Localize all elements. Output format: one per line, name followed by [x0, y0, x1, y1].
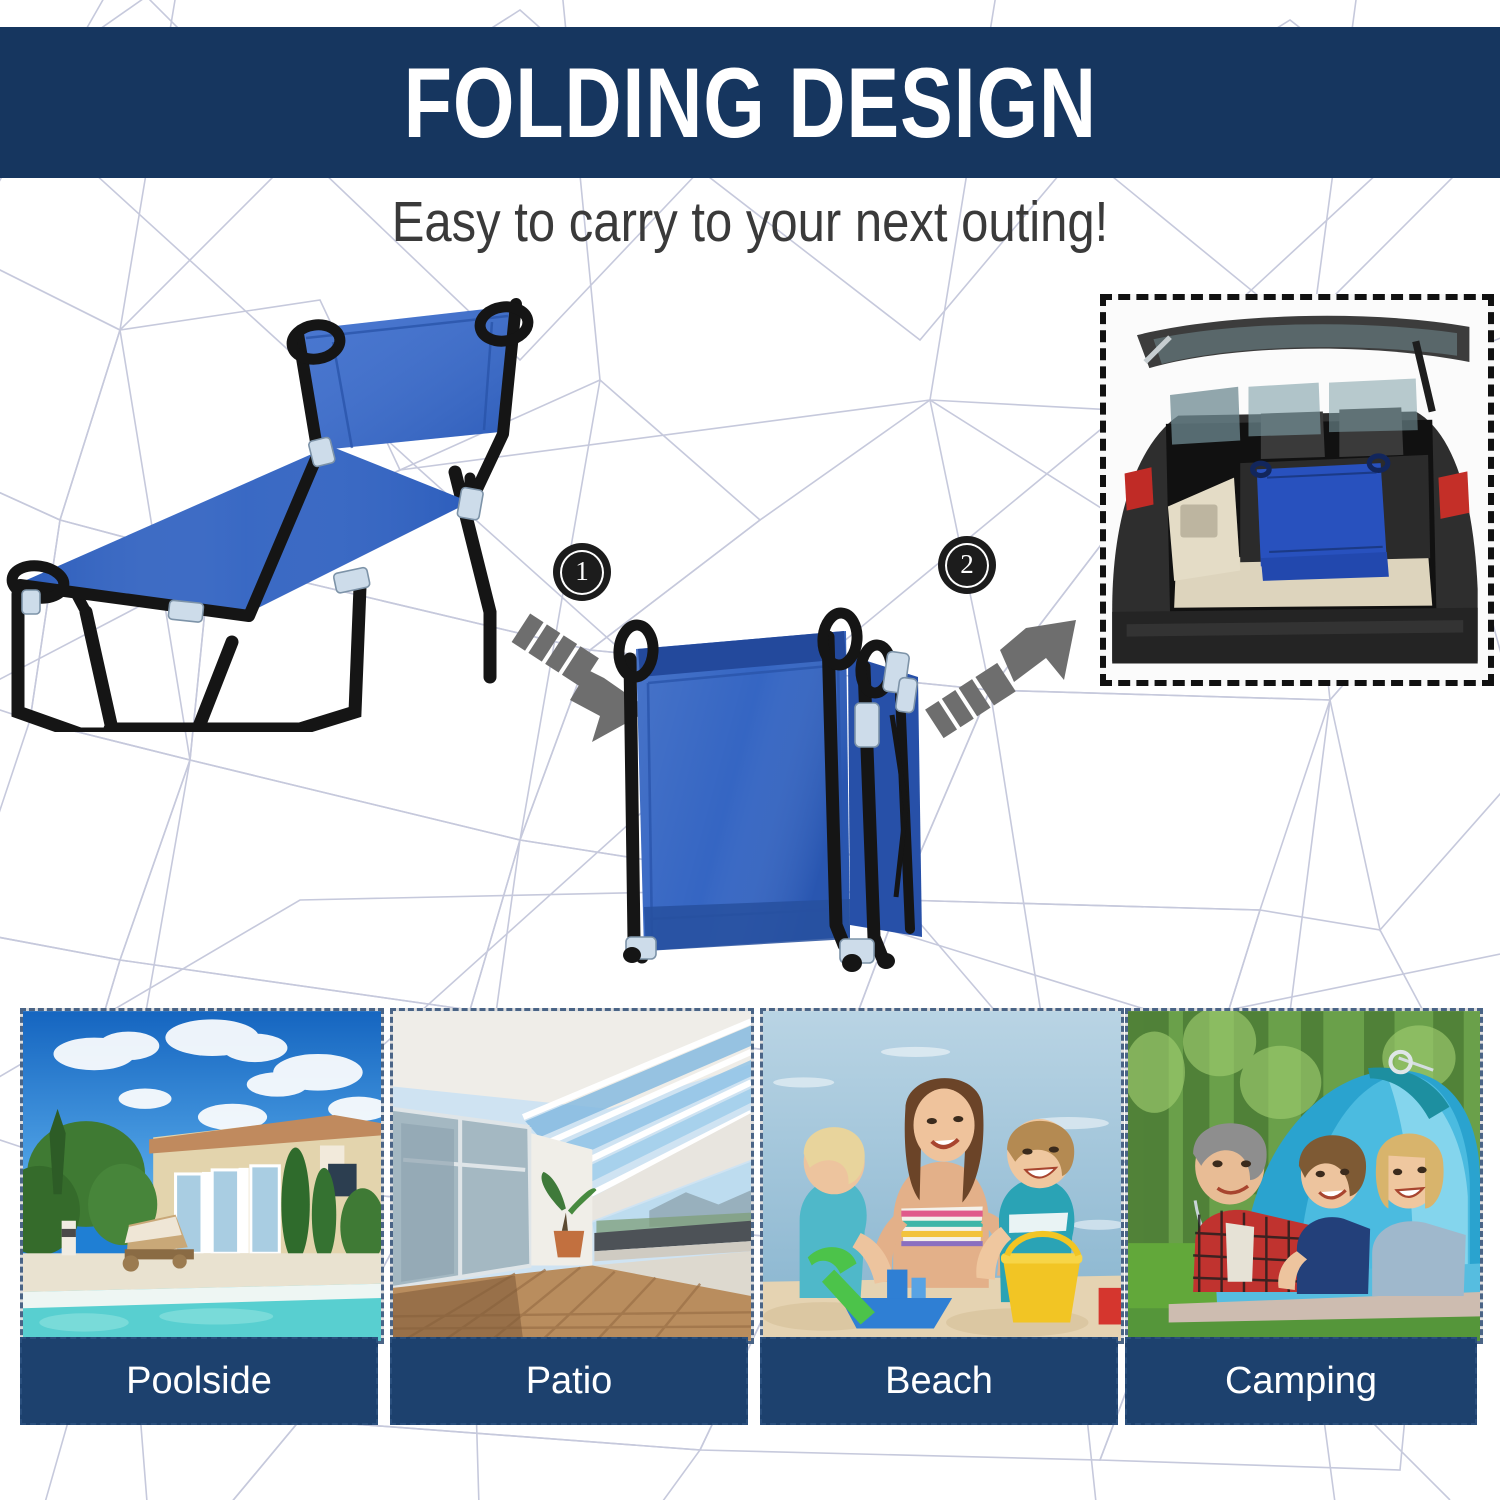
scene-panel-camping[interactable]: Camping — [1125, 1008, 1477, 1425]
poolside-photo — [20, 1008, 384, 1344]
step-2-number: 2 — [945, 543, 989, 588]
beach-photo — [760, 1008, 1124, 1344]
suv-trunk-photo — [1100, 294, 1494, 686]
folded-chaise-lounge-image — [600, 607, 970, 1007]
step-1-badge: 1 — [553, 543, 611, 601]
step-2-arrow-icon — [918, 592, 1088, 762]
infographic-root: FOLDING DESIGN Easy to carry to your nex… — [0, 0, 1500, 1500]
scene-label-poolside: Poolside — [20, 1337, 378, 1425]
step-2-badge: 2 — [938, 536, 996, 594]
scene-panel-patio[interactable]: Patio — [390, 1008, 748, 1425]
scene-label-beach: Beach — [760, 1337, 1118, 1425]
camping-photo — [1125, 1008, 1483, 1344]
header-banner: FOLDING DESIGN — [0, 27, 1500, 178]
patio-photo — [390, 1008, 754, 1344]
scene-panel-beach[interactable]: Beach — [760, 1008, 1118, 1425]
scene-panel-poolside[interactable]: Poolside — [20, 1008, 378, 1425]
page-subtitle: Easy to carry to your next outing! — [105, 186, 1395, 258]
scene-label-camping: Camping — [1125, 1337, 1477, 1425]
open-chaise-lounge-image — [0, 282, 540, 732]
step-1-number: 1 — [560, 550, 604, 595]
page-title: FOLDING DESIGN — [403, 53, 1096, 152]
scene-label-patio: Patio — [390, 1337, 748, 1425]
